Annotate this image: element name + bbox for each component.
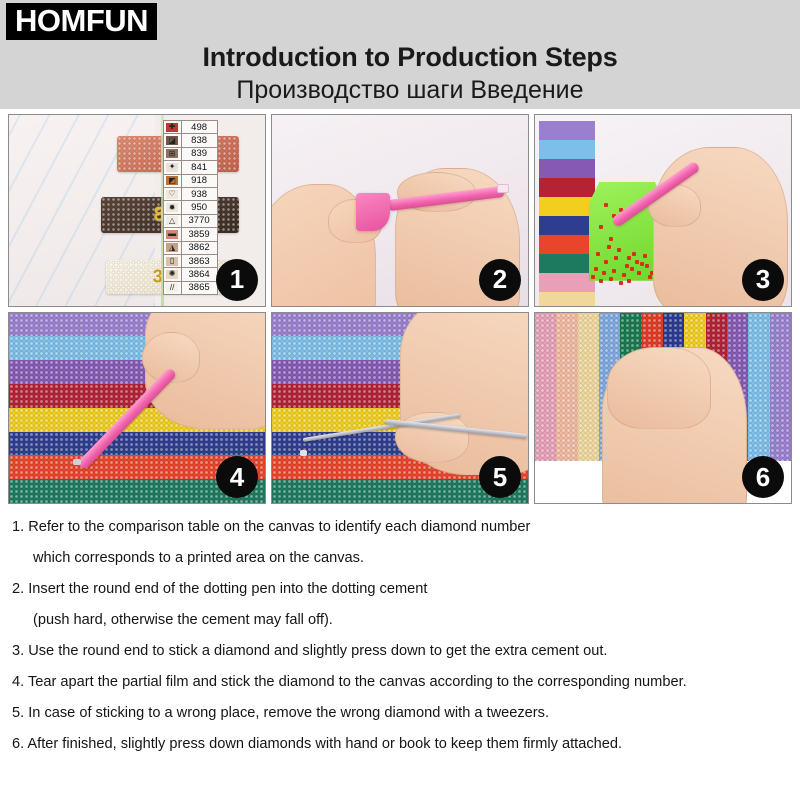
code-table-row: //3865 bbox=[163, 281, 217, 294]
canvas-color-band bbox=[539, 140, 595, 159]
panel-press-down-diamonds: 6 bbox=[534, 312, 792, 505]
tray-diamond bbox=[604, 203, 608, 207]
code-symbol-cell: ⊞ bbox=[163, 147, 181, 160]
canvas-color-band bbox=[539, 273, 595, 292]
page-header: HOMFUN Introduction to Production Steps … bbox=[0, 0, 800, 109]
code-table-row: ▯3863 bbox=[163, 254, 217, 267]
code-table-row: ✚498 bbox=[163, 121, 217, 134]
code-symbol-cell: ◩ bbox=[163, 174, 181, 187]
code-number-cell: 938 bbox=[181, 187, 217, 200]
color-swatch-icon: ⊞ bbox=[166, 149, 178, 158]
instruction-step-continuation: which corresponds to a printed area on t… bbox=[12, 543, 792, 574]
tray-diamond bbox=[622, 273, 626, 277]
canvas-color-band bbox=[578, 313, 599, 462]
tray-diamond bbox=[612, 269, 616, 273]
tray-diamond bbox=[648, 275, 652, 279]
canvas-color-band bbox=[9, 432, 265, 456]
instruction-step: 1. Refer to the comparison table on the … bbox=[12, 512, 792, 574]
canvas-color-band bbox=[556, 313, 577, 462]
code-number-cell: 838 bbox=[181, 134, 217, 147]
canvas-color-band bbox=[539, 159, 595, 178]
code-number-cell: 918 bbox=[181, 174, 217, 187]
step-badge-2: 2 bbox=[479, 259, 521, 301]
page-title-english: Introduction to Production Steps bbox=[0, 42, 800, 73]
canvas-color-band bbox=[748, 313, 769, 462]
placed-diamond bbox=[73, 459, 81, 465]
canvas-color-band bbox=[539, 197, 595, 216]
step-badge-3: 3 bbox=[742, 259, 784, 301]
instruction-step: 4. Tear apart the partial film and stick… bbox=[12, 667, 792, 698]
color-swatch-icon: ◮ bbox=[166, 243, 178, 252]
instruction-step-line: 5. In case of sticking to a wrong place,… bbox=[12, 698, 792, 729]
code-number-cell: 3862 bbox=[181, 241, 217, 254]
tray-diamond bbox=[637, 271, 641, 275]
step-badge-1: 1 bbox=[216, 259, 258, 301]
code-symbol-cell: ▯ bbox=[163, 254, 181, 267]
color-swatch-icon: ▯ bbox=[166, 257, 178, 266]
code-table-row: ◮3862 bbox=[163, 241, 217, 254]
code-table-row: ⊞839 bbox=[163, 147, 217, 160]
tray-diamond bbox=[614, 256, 618, 260]
instruction-step-line: 1. Refer to the comparison table on the … bbox=[12, 512, 792, 543]
code-number-cell: 839 bbox=[181, 147, 217, 160]
tray-diamond bbox=[619, 281, 623, 285]
homfun-logo: HOMFUN bbox=[6, 3, 157, 40]
canvas-color-band bbox=[539, 216, 595, 235]
color-swatch-icon: // bbox=[166, 283, 178, 292]
removed-diamond bbox=[300, 450, 307, 456]
instruction-step: 3. Use the round end to stick a diamond … bbox=[12, 636, 792, 667]
code-number-cell: 3863 bbox=[181, 254, 217, 267]
panel-pick-up-diamond-from-tray: 3 bbox=[534, 114, 792, 307]
tray-diamond bbox=[594, 267, 598, 271]
code-symbol-cell: ▬ bbox=[163, 228, 181, 241]
bead-texture bbox=[556, 313, 577, 462]
canvas-color-band bbox=[539, 178, 595, 197]
tray-diamond bbox=[617, 248, 621, 252]
color-swatch-icon: △ bbox=[166, 216, 178, 225]
canvas-color-band bbox=[539, 254, 595, 273]
canvas-color-band bbox=[535, 313, 556, 462]
code-number-cell: 3865 bbox=[181, 281, 217, 294]
step-badge-5: 5 bbox=[479, 456, 521, 498]
tray-diamond bbox=[630, 267, 634, 271]
panel-remove-diamond-with-tweezers: 5 bbox=[271, 312, 529, 505]
instruction-step: 6. After finished, slightly press down d… bbox=[12, 729, 792, 760]
code-number-cell: 3864 bbox=[181, 268, 217, 281]
color-swatch-icon: ▬ bbox=[166, 230, 178, 239]
color-swatch-icon: ✹ bbox=[166, 203, 178, 212]
code-symbol-cell: // bbox=[163, 281, 181, 294]
bead-texture bbox=[578, 313, 599, 462]
hand-fingers bbox=[607, 347, 711, 429]
pen-cap-tip bbox=[497, 184, 509, 193]
code-number-cell: 498 bbox=[181, 121, 217, 134]
color-swatch-icon: ✺ bbox=[166, 270, 178, 279]
step-badge-4: 4 bbox=[216, 456, 258, 498]
code-number-cell: 950 bbox=[181, 201, 217, 214]
tray-diamond bbox=[640, 262, 644, 266]
instruction-step-line: 2. Insert the round end of the dotting p… bbox=[12, 574, 792, 605]
tray-diamond bbox=[635, 260, 639, 264]
code-symbol-cell: ✺ bbox=[163, 268, 181, 281]
code-number-cell: 3770 bbox=[181, 214, 217, 227]
tray-diamond bbox=[643, 254, 647, 258]
step-image-grid: 3859 839 3865 ✚498◪838⊞839✦841◩918♡938✹9… bbox=[8, 114, 792, 504]
tray-diamond bbox=[604, 260, 608, 264]
code-number-cell: 841 bbox=[181, 161, 217, 174]
code-symbol-cell: ✹ bbox=[163, 201, 181, 214]
tray-diamond bbox=[602, 271, 606, 275]
tray-diamond bbox=[627, 279, 631, 283]
canvas-strip bbox=[539, 121, 595, 307]
code-symbol-cell: △ bbox=[163, 214, 181, 227]
tray-diamond bbox=[596, 252, 600, 256]
instruction-step: 2. Insert the round end of the dotting p… bbox=[12, 574, 792, 636]
code-symbol-cell: ✦ bbox=[163, 161, 181, 174]
tray-diamond bbox=[609, 237, 613, 241]
instruction-step: 5. In case of sticking to a wrong place,… bbox=[12, 698, 792, 729]
code-table-row: △3770 bbox=[163, 214, 217, 227]
code-symbol-cell: ✚ bbox=[163, 121, 181, 134]
code-table-row: ♡938 bbox=[163, 187, 217, 200]
bead-texture bbox=[748, 313, 769, 462]
canvas-color-band bbox=[770, 313, 791, 462]
code-symbol-cell: ♡ bbox=[163, 187, 181, 200]
tray-diamond bbox=[625, 264, 629, 268]
instruction-step-line: 3. Use the round end to stick a diamond … bbox=[12, 636, 792, 667]
code-table-row: ✺3864 bbox=[163, 268, 217, 281]
panel-insert-pen-into-cement: 2 bbox=[271, 114, 529, 307]
color-swatch-icon: ✦ bbox=[166, 163, 178, 172]
color-swatch-icon: ◩ bbox=[166, 176, 178, 185]
bead-texture bbox=[9, 432, 265, 456]
code-table-row: ✦841 bbox=[163, 161, 217, 174]
diamond-code-table: ✚498◪838⊞839✦841◩918♡938✹950△3770▬3859◮3… bbox=[163, 120, 218, 295]
tray-diamond bbox=[607, 245, 611, 249]
color-swatch-icon: ♡ bbox=[166, 190, 178, 199]
code-table-row: ◪838 bbox=[163, 134, 217, 147]
instruction-step-line: 6. After finished, slightly press down d… bbox=[12, 729, 792, 760]
page-title-russian: Производство шаги Введение bbox=[0, 76, 800, 105]
tray-diamond bbox=[599, 225, 603, 229]
instruction-step-line: 4. Tear apart the partial film and stick… bbox=[12, 667, 792, 698]
bead-texture bbox=[770, 313, 791, 462]
color-swatch-icon: ✚ bbox=[166, 123, 178, 132]
code-table-row: ✹950 bbox=[163, 201, 217, 214]
code-number-cell: 3859 bbox=[181, 228, 217, 241]
code-symbol-cell: ◪ bbox=[163, 134, 181, 147]
canvas-color-band bbox=[539, 121, 595, 140]
tray-diamond bbox=[599, 279, 603, 283]
tray-diamond bbox=[627, 256, 631, 260]
code-table-row: ▬3859 bbox=[163, 228, 217, 241]
code-table-row: ◩918 bbox=[163, 174, 217, 187]
bead-texture bbox=[535, 313, 556, 462]
color-swatch-icon: ◪ bbox=[166, 136, 178, 145]
step-badge-6: 6 bbox=[742, 456, 784, 498]
canvas-color-band bbox=[539, 292, 595, 306]
dotting-cement bbox=[356, 193, 389, 231]
canvas-color-band bbox=[539, 235, 595, 254]
tray-diamond bbox=[632, 252, 636, 256]
tray-diamond bbox=[645, 264, 649, 268]
instruction-list: 1. Refer to the comparison table on the … bbox=[12, 512, 792, 760]
panel-diamond-bags-and-code-table: 3859 839 3865 ✚498◪838⊞839✦841◩918♡938✹9… bbox=[8, 114, 266, 307]
code-table-body: ✚498◪838⊞839✦841◩918♡938✹950△3770▬3859◮3… bbox=[163, 121, 217, 295]
tray-diamond bbox=[609, 277, 613, 281]
code-symbol-cell: ◮ bbox=[163, 241, 181, 254]
tray-diamond bbox=[591, 275, 595, 279]
panel-place-diamond-on-canvas: 4 bbox=[8, 312, 266, 505]
instruction-step-continuation: (push hard, otherwise the cement may fal… bbox=[12, 605, 792, 636]
